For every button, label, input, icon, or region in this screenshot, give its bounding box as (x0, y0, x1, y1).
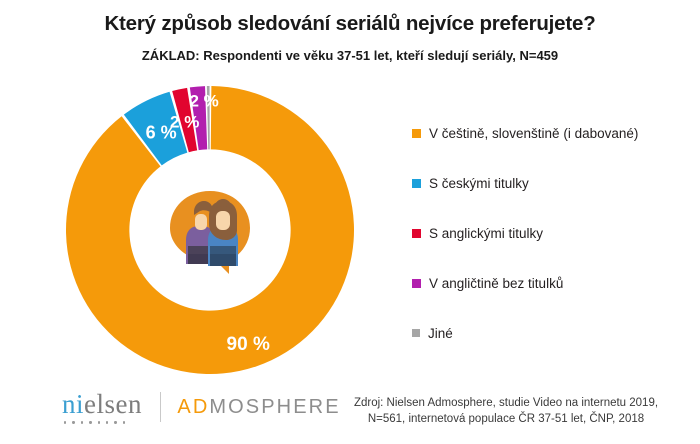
legend-item-label: S českými titulky (429, 176, 529, 191)
donut-slice-value-label: 2 % (190, 92, 219, 111)
couple-speech-bubble-icon (158, 178, 262, 282)
legend-swatch-gray (412, 329, 420, 337)
legend-swatch-blue (412, 179, 421, 188)
source-line-2: N=561, internetová populace ČR 37-51 let… (326, 411, 686, 428)
legend-item-label: V češtině, slovenštině (i dabované) (429, 126, 638, 141)
legend-item-label: S anglickými titulky (429, 226, 543, 241)
source-note: Zdroj: Nielsen Admosphere, studie Video … (326, 395, 686, 428)
donut-chart: 90 %6 %2 %2 % (66, 86, 354, 374)
chart-subtitle: ZÁKLAD: Respondenti ve věku 37-51 let, k… (0, 48, 700, 63)
admosphere-wordmark: ADMOSPHERE (177, 396, 340, 419)
legend-swatch-purple (412, 279, 421, 288)
legend-item[interactable]: V češtině, slovenštině (i dabované) (412, 108, 692, 158)
nielsen-logo-dots (64, 421, 125, 423)
admosphere-wordmark-suffix: MOSPHERE (209, 396, 340, 418)
nielsen-wordmark-prefix: ni (62, 389, 84, 419)
legend-item[interactable]: Jiné (412, 308, 692, 358)
legend-item-label: V angličtině bez titulků (429, 276, 563, 291)
donut-slice-value-label: 90 % (227, 334, 270, 355)
donut-slice-value-label: 2 % (170, 112, 199, 131)
page-title: Který způsob sledování seriálů nejvíce p… (0, 12, 700, 36)
logo-divider (160, 392, 161, 422)
nielsen-wordmark-suffix: elsen (84, 389, 142, 419)
legend-item[interactable]: S českými titulky (412, 158, 692, 208)
legend-item[interactable]: S anglickými titulky (412, 208, 692, 258)
nielsen-wordmark: nielsen (62, 391, 142, 424)
legend-item-label: Jiné (428, 326, 453, 341)
legend-item[interactable]: V angličtině bez titulků (412, 258, 692, 308)
source-line-1: Zdroj: Nielsen Admosphere, studie Video … (326, 395, 686, 412)
chart-slide: Který způsob sledování seriálů nejvíce p… (0, 0, 700, 444)
chart-legend: V češtině, slovenštině (i dabované)S čes… (412, 108, 692, 358)
legend-swatch-red (412, 229, 421, 238)
admosphere-wordmark-prefix: AD (177, 396, 209, 418)
legend-swatch-orange (412, 129, 421, 138)
nielsen-admosphere-logo: nielsen ADMOSPHERE (62, 390, 341, 424)
